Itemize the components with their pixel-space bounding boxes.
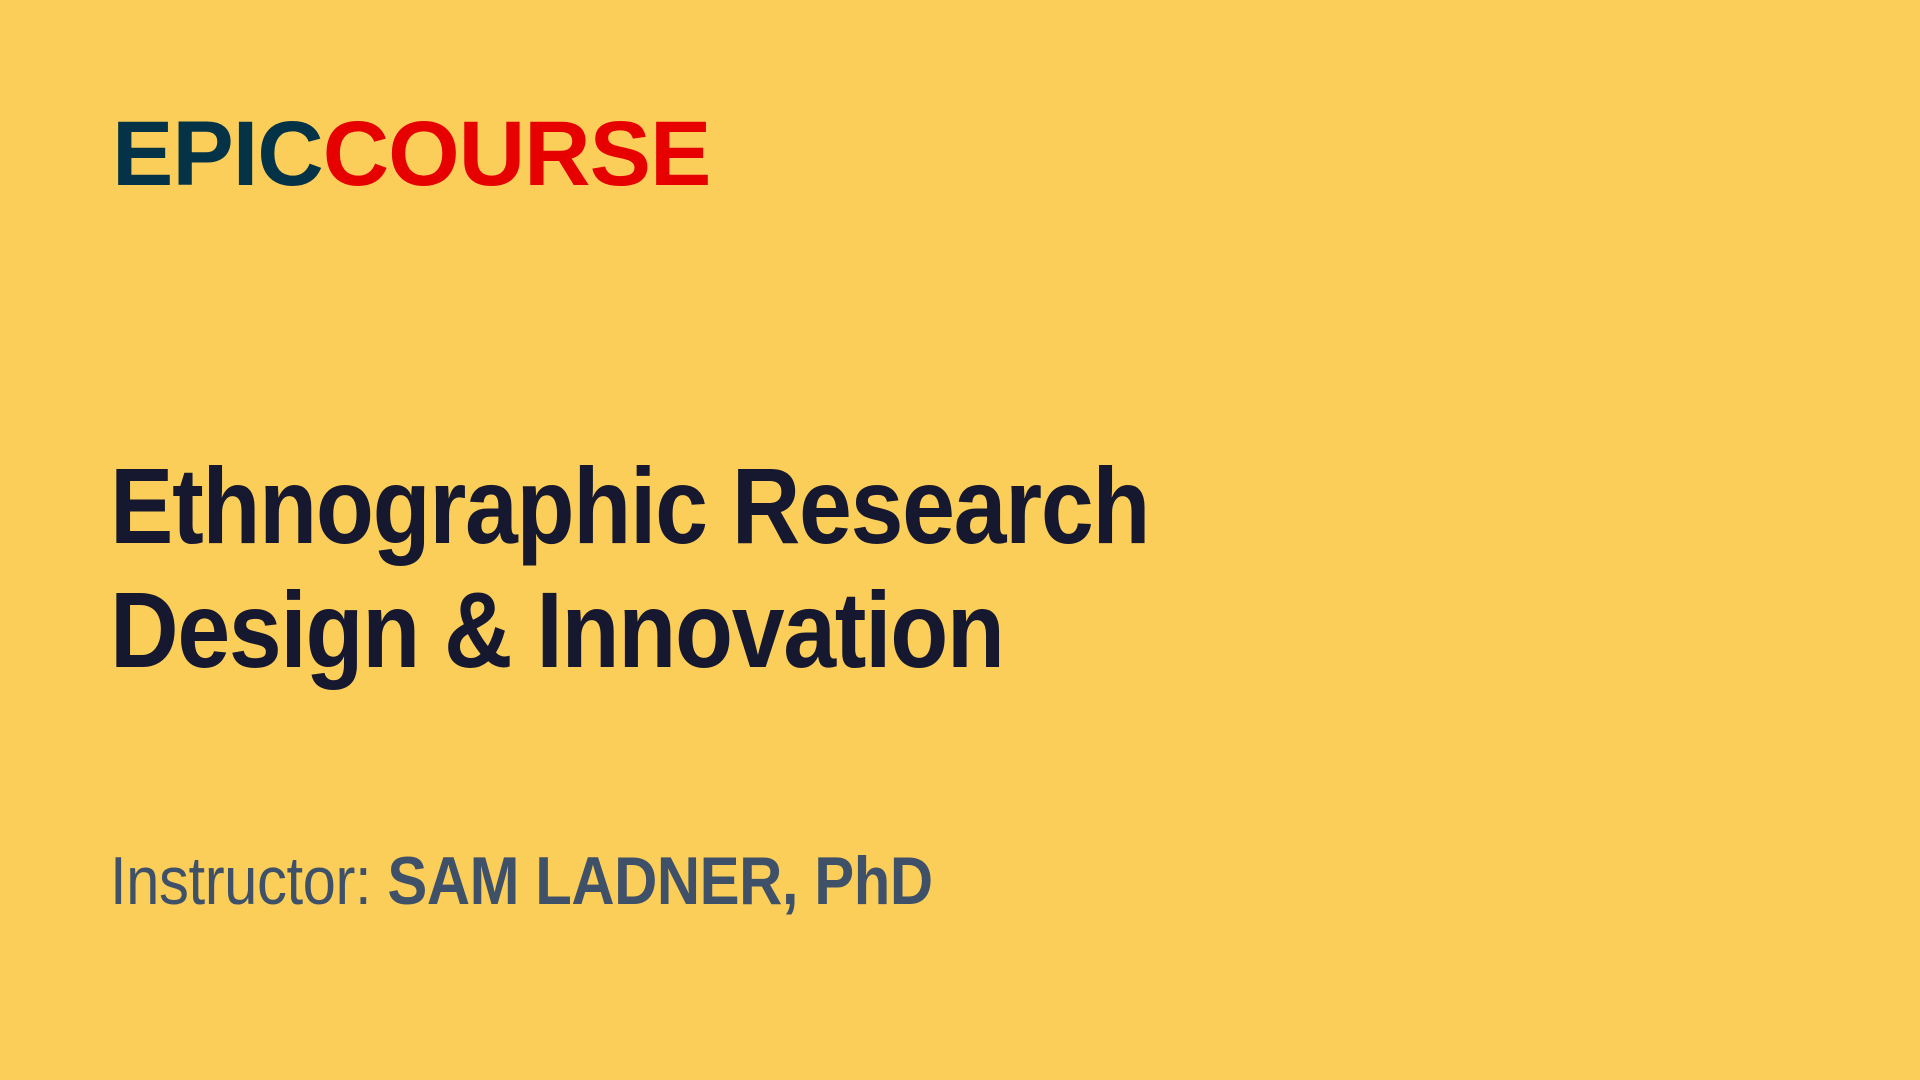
brand-logo-primary-text: EPIC bbox=[112, 103, 323, 205]
instructor-label: Instructor: bbox=[110, 843, 387, 919]
course-title-line-1: Ethnographic Research bbox=[110, 444, 1342, 568]
instructor-name: SAM LADNER, PhD bbox=[387, 843, 932, 919]
course-title: Ethnographic Research Design & Innovatio… bbox=[110, 444, 1342, 692]
brand-logo: EPICCOURSE bbox=[112, 108, 710, 200]
course-title-slide: EPICCOURSE Ethnographic Research Design … bbox=[0, 0, 1920, 1080]
instructor-credit: Instructor: SAM LADNER, PhD bbox=[110, 838, 933, 924]
brand-logo-secondary-text: COURSE bbox=[323, 103, 711, 205]
course-title-line-2: Design & Innovation bbox=[110, 568, 1342, 692]
